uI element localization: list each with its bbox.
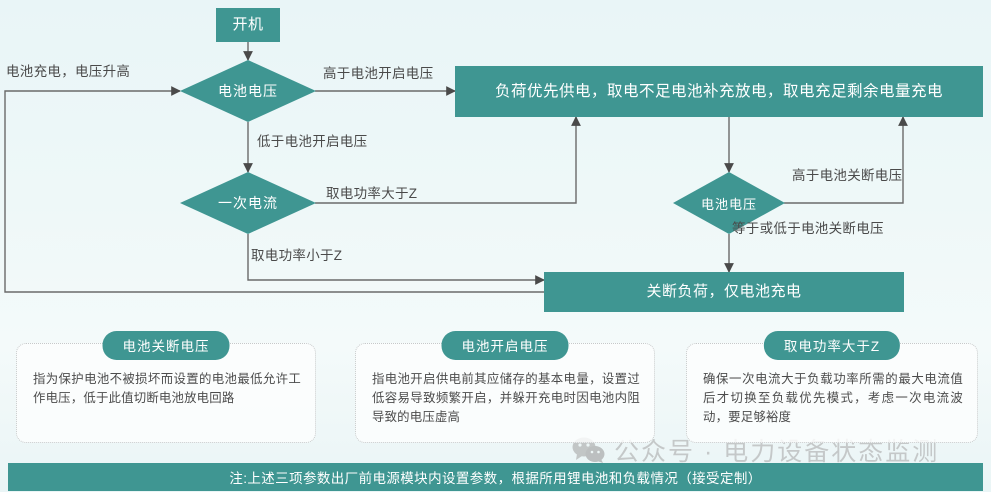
node-action-load-priority-label: 负荷优先供电，取电不足电池补充放电，取电充足剩余电量充电 xyxy=(495,82,943,101)
node-decision-primary-current-label: 一次电流 xyxy=(180,172,316,234)
edge-label-below-battery-start-voltage: 低于电池开启电压 xyxy=(257,130,367,150)
node-action-shutdown-load[interactable]: 关断负荷，仅电池充电 xyxy=(544,272,904,312)
explanation-card-battery-start-voltage: 电池开启电压 指电池开启供电前其应储存的基本电量，设置过低容易导致频繁开启，并躲… xyxy=(355,343,655,443)
card-title-badge: 电池关断电压 xyxy=(103,331,230,360)
edge-label-power-less-than-z: 取电功率小于Z xyxy=(251,244,342,264)
card-title-badge: 电池开启电压 xyxy=(442,331,569,360)
node-action-load-priority[interactable]: 负荷优先供电，取电不足电池补充放电，取电充足剩余电量充电 xyxy=(455,66,983,117)
edge-label-above-battery-start-voltage: 高于电池开启电压 xyxy=(323,62,433,82)
node-decision-battery-voltage-1[interactable]: 电池电压 xyxy=(180,60,316,122)
node-action-shutdown-load-label: 关断负荷，仅电池充电 xyxy=(646,283,801,302)
card-body-text: 确保一次电流大于负载功率所需的最大电流值后才切换至负载优先模式，考虑一次电流波动… xyxy=(703,370,963,428)
node-start[interactable]: 开机 xyxy=(216,8,280,42)
flowchart-canvas: 开机 电池电压 一次电流 电池电压 负荷优先供电，取电不足电池补充放电，取电充足… xyxy=(0,0,991,492)
edge-label-equal-or-below-battery-cutoff-voltage: 等于或低于电池关断电压 xyxy=(732,217,884,237)
node-decision-battery-voltage-1-label: 电池电压 xyxy=(180,60,316,122)
node-start-label: 开机 xyxy=(232,16,263,35)
footer-note-text: 注:上述三项参数出厂前电源模块内设置参数，根据所用锂电池和负载情况（接受定制） xyxy=(229,467,761,487)
card-body-text: 指电池开启供电前其应储存的基本电量，设置过低容易导致频繁开启，并躲开充电时因电池… xyxy=(372,370,640,428)
footer-note-bar: 注:上述三项参数出厂前电源模块内设置参数，根据所用锂电池和负载情况（接受定制） xyxy=(8,463,983,491)
edge-voltage2-above-cutoff-to-load-priority xyxy=(784,117,903,203)
node-decision-primary-current[interactable]: 一次电流 xyxy=(180,172,316,234)
edge-label-above-battery-cutoff-voltage: 高于电池关断电压 xyxy=(792,164,902,184)
edge-label-power-greater-than-z: 取电功率大于Z xyxy=(326,182,417,202)
card-body-text: 指为保护电池不被损坏而设置的电池最低允许工作电压，低于此值切断电池放电回路 xyxy=(33,370,301,408)
edge-label-battery-charging-rising: 电池充电，电压升高 xyxy=(6,60,130,80)
explanation-card-power-greater-than-z: 取电功率大于Z 确保一次电流大于负载功率所需的最大电流值后才切换至负载优先模式，… xyxy=(686,343,978,443)
card-title-badge: 取电功率大于Z xyxy=(764,331,900,360)
explanation-card-battery-cutoff-voltage: 电池关断电压 指为保护电池不被损坏而设置的电池最低允许工作电压，低于此值切断电池… xyxy=(16,343,316,443)
